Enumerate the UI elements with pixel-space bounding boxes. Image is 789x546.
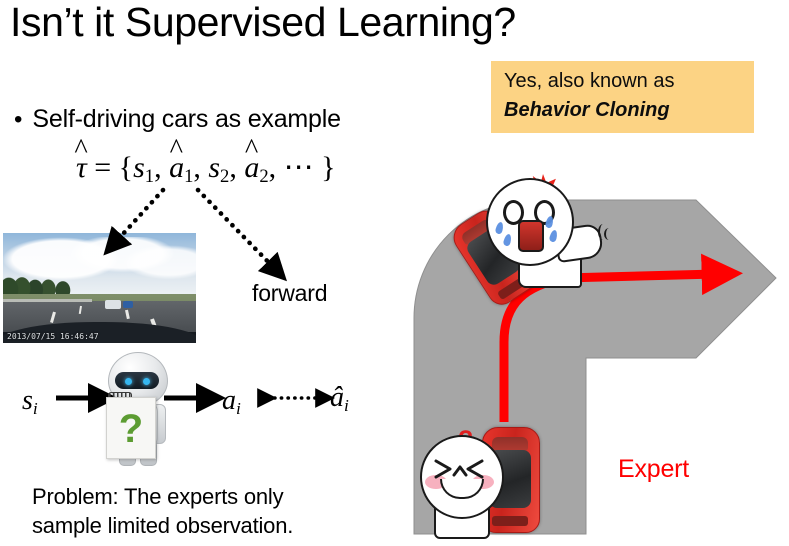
photo-vehicle (123, 301, 133, 308)
happy-car-group (420, 425, 560, 537)
bullet-text: Self-driving cars as example (32, 104, 340, 134)
robot-notepad: ? (106, 397, 156, 459)
page-title: Isn’t it Supervised Learning? (10, 0, 516, 46)
robot-eye-right (143, 378, 150, 385)
dotted-arrow-to-forward (198, 190, 278, 272)
robot-figure: ? (88, 352, 180, 464)
question-mark-icon: ? (107, 404, 155, 454)
open-mouth (518, 220, 544, 252)
road-diagram: Expert ? (400, 170, 789, 546)
expert-label: Expert (618, 455, 689, 483)
slide-canvas: Isn’t it Supervised Learning? • Self-dri… (0, 0, 789, 546)
crashed-car-group (460, 182, 590, 317)
callout-box: Yes, also known as Behavior Cloning (491, 61, 754, 133)
closed-eyes-icon (420, 435, 500, 515)
car-rear (492, 516, 529, 525)
problem-text: Problem: The experts only sample limited… (32, 482, 293, 540)
panicked-character-face (486, 178, 570, 262)
callout-line-2: Behavior Cloning (504, 96, 742, 125)
dashcam-photo: 2013/07/15 16:46:47 (3, 233, 196, 343)
photo-vehicle (105, 300, 121, 309)
state-label-si: si (22, 385, 38, 419)
action-hat-label-ai: âi (330, 382, 349, 416)
robot-eye-left (125, 378, 132, 385)
problem-line-1: Problem: The experts only (32, 482, 293, 511)
forward-label: forward (252, 279, 327, 307)
bullet-row: • Self-driving cars as example (14, 104, 341, 134)
bullet-marker-icon: • (14, 108, 22, 132)
happy-character-face (420, 435, 500, 515)
tau-hat-symbol: ^τ (76, 150, 87, 186)
robot-visor (115, 372, 159, 389)
problem-line-2: sample limited observation. (32, 511, 293, 540)
callout-line-1: Yes, also known as (504, 67, 742, 96)
motion-line-icon (604, 228, 614, 240)
photo-guardrail (3, 299, 92, 302)
photo-timestamp: 2013/07/15 16:46:47 (7, 332, 99, 341)
action-label-ai: ai (222, 385, 241, 419)
trajectory-formula: ^τ = {s1, ^a1, s2, ^a2, ⋯ } (76, 150, 336, 195)
